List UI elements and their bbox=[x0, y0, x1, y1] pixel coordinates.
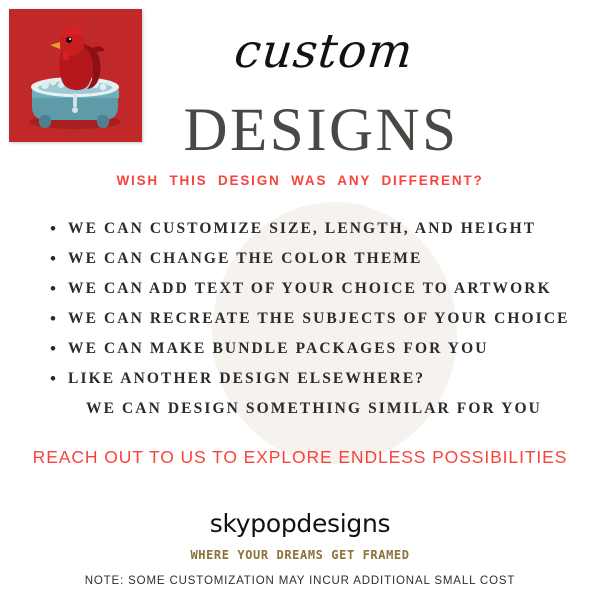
list-item-label: WE CAN DESIGN SOMETHING SIMILAR FOR YOU bbox=[86, 400, 542, 417]
bullet-marker-icon: • bbox=[50, 304, 58, 334]
list-item-continuation: WE CAN DESIGN SOMETHING SIMILAR FOR YOU bbox=[46, 394, 590, 424]
promo-graphic-canvas: custom DESIGNS WISH THIS DESIGN WAS ANY … bbox=[0, 0, 600, 600]
bullet-marker-icon: • bbox=[50, 364, 58, 394]
list-item-label: WE CAN ADD TEXT OF YOUR CHOICE TO ARTWOR… bbox=[68, 280, 552, 297]
list-item-label: WE CAN MAKE BUNDLE PACKAGES FOR YOU bbox=[68, 340, 489, 357]
list-item: • WE CAN CUSTOMIZE SIZE, LENGTH, AND HEI… bbox=[46, 214, 590, 244]
bullet-marker-icon: • bbox=[50, 244, 58, 274]
bullet-marker-icon: • bbox=[50, 274, 58, 304]
list-item: • WE CAN MAKE BUNDLE PACKAGES FOR YOU bbox=[46, 334, 590, 364]
customization-options-list: • WE CAN CUSTOMIZE SIZE, LENGTH, AND HEI… bbox=[46, 214, 590, 424]
brand-name: skypopdesigns bbox=[0, 509, 600, 538]
list-item: • WE CAN CHANGE THE COLOR THEME bbox=[46, 244, 590, 274]
bullet-marker-icon: • bbox=[50, 334, 58, 364]
script-title-custom: custom bbox=[0, 24, 600, 79]
call-to-action-text: REACH OUT TO US TO EXPLORE ENDLESS POSSI… bbox=[0, 447, 600, 468]
list-item-label: WE CAN CHANGE THE COLOR THEME bbox=[68, 250, 422, 267]
page-title-designs: DESIGNS bbox=[0, 96, 600, 166]
list-item-label: WE CAN RECREATE THE SUBJECTS OF YOUR CHO… bbox=[68, 310, 570, 327]
list-item-label: WE CAN CUSTOMIZE SIZE, LENGTH, AND HEIGH… bbox=[68, 220, 536, 237]
bullet-marker-icon: • bbox=[50, 214, 58, 244]
list-item: • WE CAN RECREATE THE SUBJECTS OF YOUR C… bbox=[46, 304, 590, 334]
brand-tagline: WHERE YOUR DREAMS GET FRAMED bbox=[0, 548, 600, 562]
subtitle-question: WISH THIS DESIGN WAS ANY DIFFERENT? bbox=[0, 173, 600, 188]
list-item: • WE CAN ADD TEXT OF YOUR CHOICE TO ARTW… bbox=[46, 274, 590, 304]
list-item-label: LIKE ANOTHER DESIGN ELSEWHERE? bbox=[68, 370, 425, 387]
footnote-disclaimer: NOTE: SOME CUSTOMIZATION MAY INCUR ADDIT… bbox=[0, 575, 600, 587]
list-item: • LIKE ANOTHER DESIGN ELSEWHERE? bbox=[46, 364, 590, 394]
